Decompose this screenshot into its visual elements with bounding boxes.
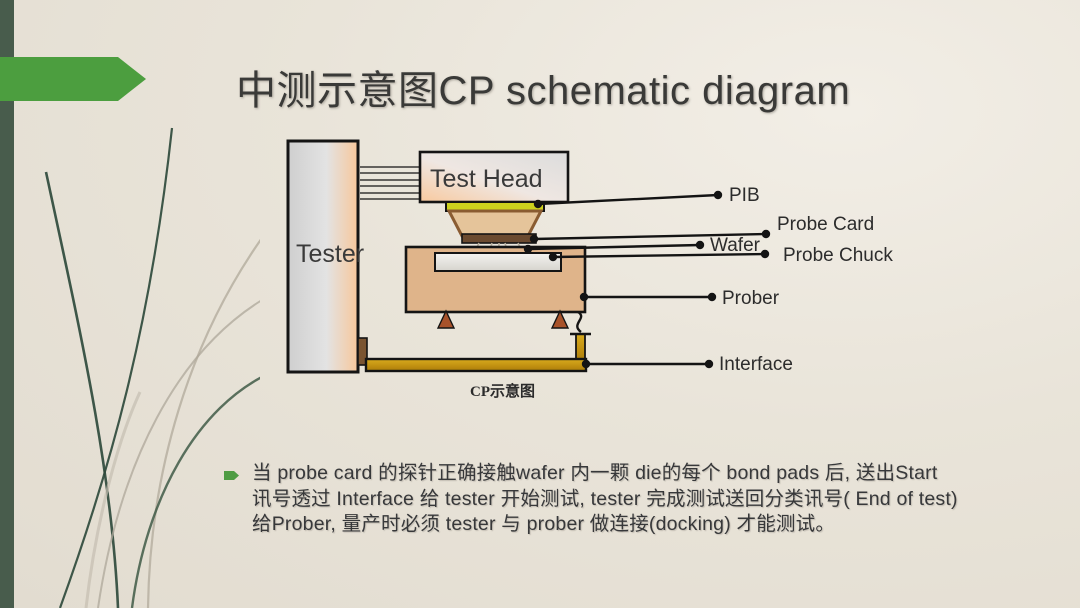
interface-riser	[576, 334, 585, 361]
tester-cables	[360, 167, 420, 199]
interface-bar	[366, 359, 586, 371]
prober-foot-right	[552, 311, 568, 328]
body-line-1: 当 probe card 的探针正确接触wafer 内一颗 die的每个 bon…	[252, 461, 1024, 487]
test-head-block: Test Head	[420, 152, 568, 202]
tester-block: Tester	[288, 141, 364, 372]
body-bullet: 当 probe card 的探针正确接触wafer 内一颗 die的每个 bon…	[224, 461, 1024, 538]
probe-card-bar	[462, 234, 536, 243]
callout-label-interface: Interface	[719, 354, 793, 375]
pib-trapezoid	[449, 211, 541, 236]
callout-label-wafer: Wafer	[710, 235, 761, 256]
tester-label: Tester	[296, 240, 364, 268]
arrow-bullet-icon	[224, 470, 240, 481]
flex-connector	[577, 312, 581, 332]
cp-schematic-diagram: Tester Test Head	[0, 0, 1080, 430]
slide-canvas: 中测示意图CP schematic diagram	[0, 0, 1080, 608]
diagram-caption: CP示意图	[470, 380, 650, 401]
probe-chuck-bar	[435, 253, 561, 271]
prober-foot-left	[438, 311, 454, 328]
callout-label-probe-card: Probe Card	[777, 214, 874, 235]
body-bullet-text: 当 probe card 的探针正确接触wafer 内一颗 die的每个 bon…	[252, 461, 1024, 538]
callout-label-prober: Prober	[722, 288, 780, 309]
callout-label-pib: PIB	[729, 185, 760, 206]
callout-label-probe-chuck: Probe Chuck	[783, 245, 893, 266]
test-head-label: Test Head	[430, 165, 543, 193]
body-line-3: 给Prober, 量产时必须 tester 与 prober 做连接(docki…	[252, 512, 1024, 538]
body-line-2: 讯号透过 Interface 给 tester 开始测试, tester 完成测…	[252, 487, 1024, 513]
